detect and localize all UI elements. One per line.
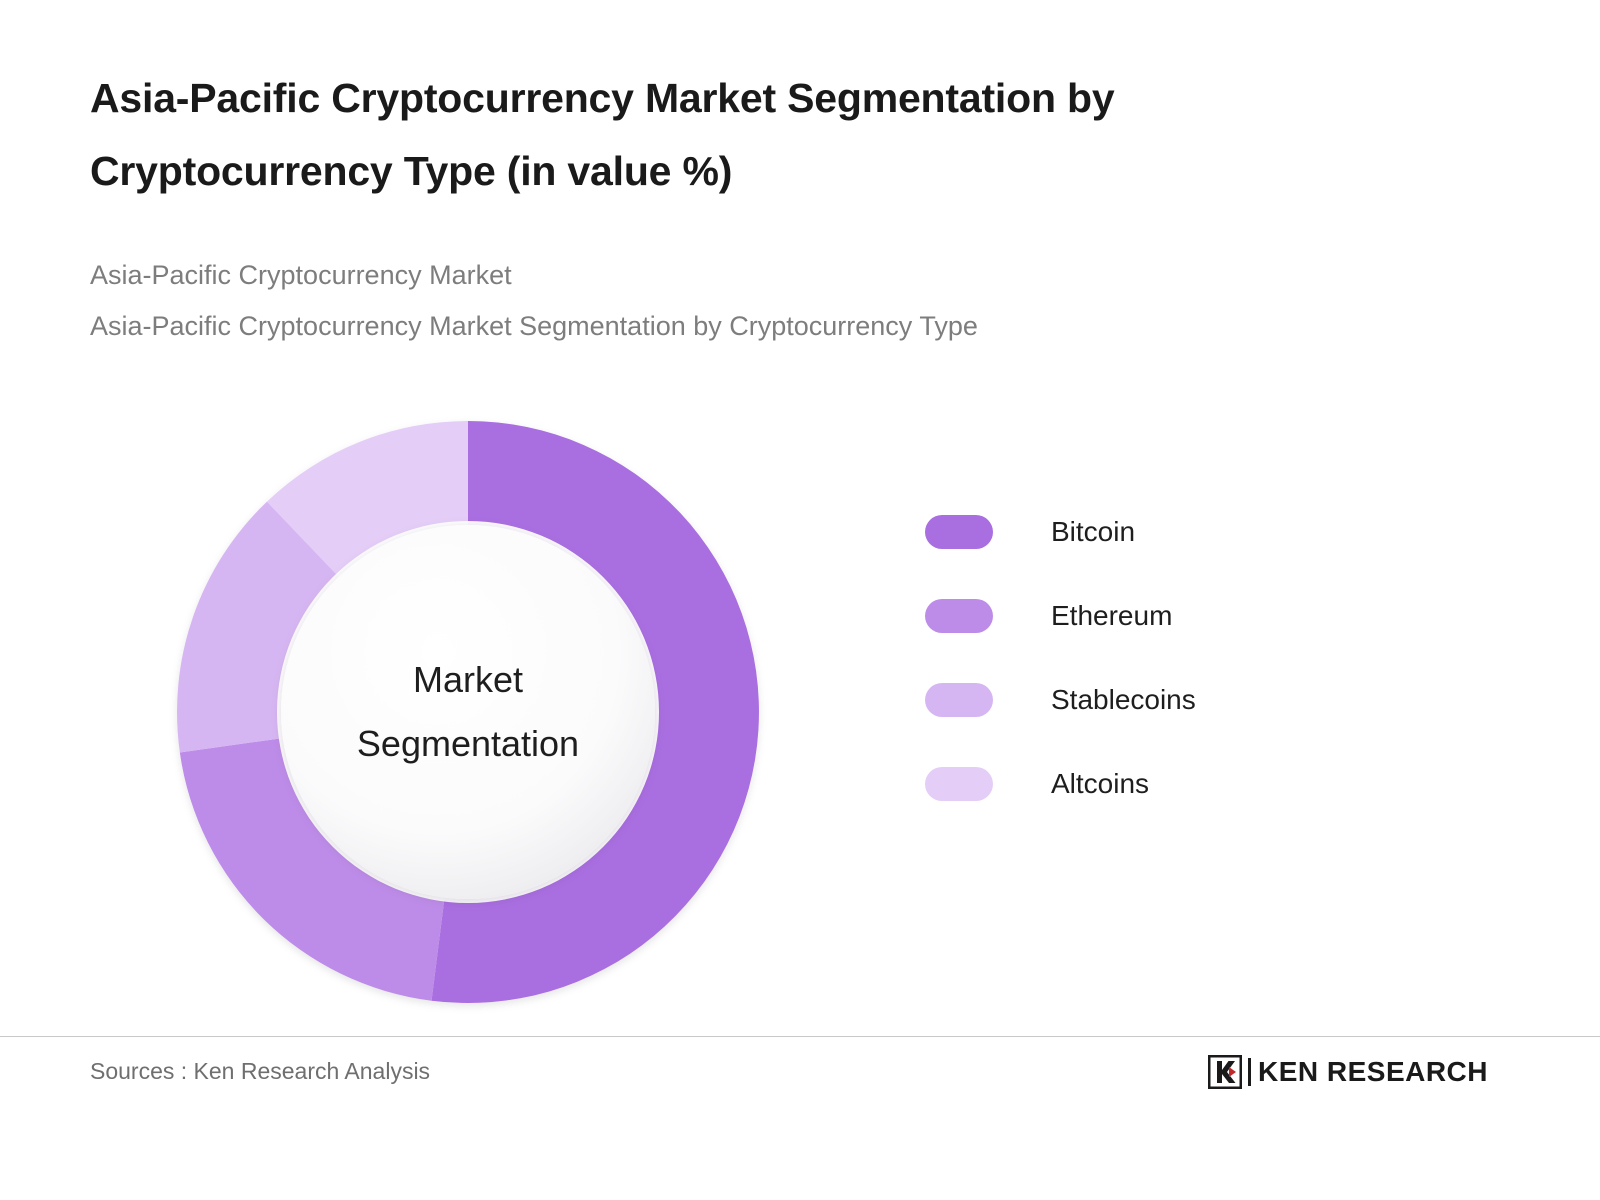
- subtitle-line-2: Asia-Pacific Cryptocurrency Market Segme…: [90, 301, 1420, 352]
- slide-canvas: Asia-Pacific Cryptocurrency Market Segme…: [0, 0, 1600, 1200]
- logo-divider: [1248, 1058, 1251, 1086]
- donut-hole: [281, 525, 655, 899]
- legend-item-bitcoin[interactable]: Bitcoin: [925, 490, 1196, 574]
- header: Asia-Pacific Cryptocurrency Market Segme…: [90, 62, 1420, 351]
- donut-chart: Bitcoin 52%Ethereum 21%Stablecoins 15%Al…: [176, 420, 760, 1004]
- legend-item-stablecoins[interactable]: Stablecoins: [925, 658, 1196, 742]
- legend-label: Ethereum: [1051, 600, 1172, 632]
- logo-wordmark: KEN RESEARCH: [1258, 1056, 1488, 1088]
- donut-svg: Bitcoin 52%Ethereum 21%Stablecoins 15%Al…: [176, 420, 760, 1004]
- legend-swatch-stablecoins: [925, 683, 993, 717]
- subtitle-line-1: Asia-Pacific Cryptocurrency Market: [90, 250, 1420, 301]
- page-title: Asia-Pacific Cryptocurrency Market Segme…: [90, 62, 1420, 208]
- legend-swatch-bitcoin: [925, 515, 993, 549]
- ken-research-logo: KEN RESEARCH: [1208, 1055, 1488, 1089]
- chart-area: Bitcoin 52%Ethereum 21%Stablecoins 15%Al…: [0, 395, 1600, 1035]
- chart-legend: BitcoinEthereumStablecoinsAltcoins: [925, 490, 1196, 826]
- legend-swatch-altcoins: [925, 767, 993, 801]
- legend-label: Altcoins: [1051, 768, 1149, 800]
- legend-swatch-ethereum: [925, 599, 993, 633]
- source-note: Sources : Ken Research Analysis: [90, 1058, 430, 1085]
- k-shield-icon: [1208, 1055, 1242, 1089]
- legend-label: Bitcoin: [1051, 516, 1135, 548]
- legend-label: Stablecoins: [1051, 684, 1196, 716]
- legend-item-altcoins[interactable]: Altcoins: [925, 742, 1196, 826]
- footer-divider: [0, 1036, 1600, 1037]
- subtitle: Asia-Pacific Cryptocurrency Market Asia-…: [90, 208, 1420, 352]
- legend-item-ethereum[interactable]: Ethereum: [925, 574, 1196, 658]
